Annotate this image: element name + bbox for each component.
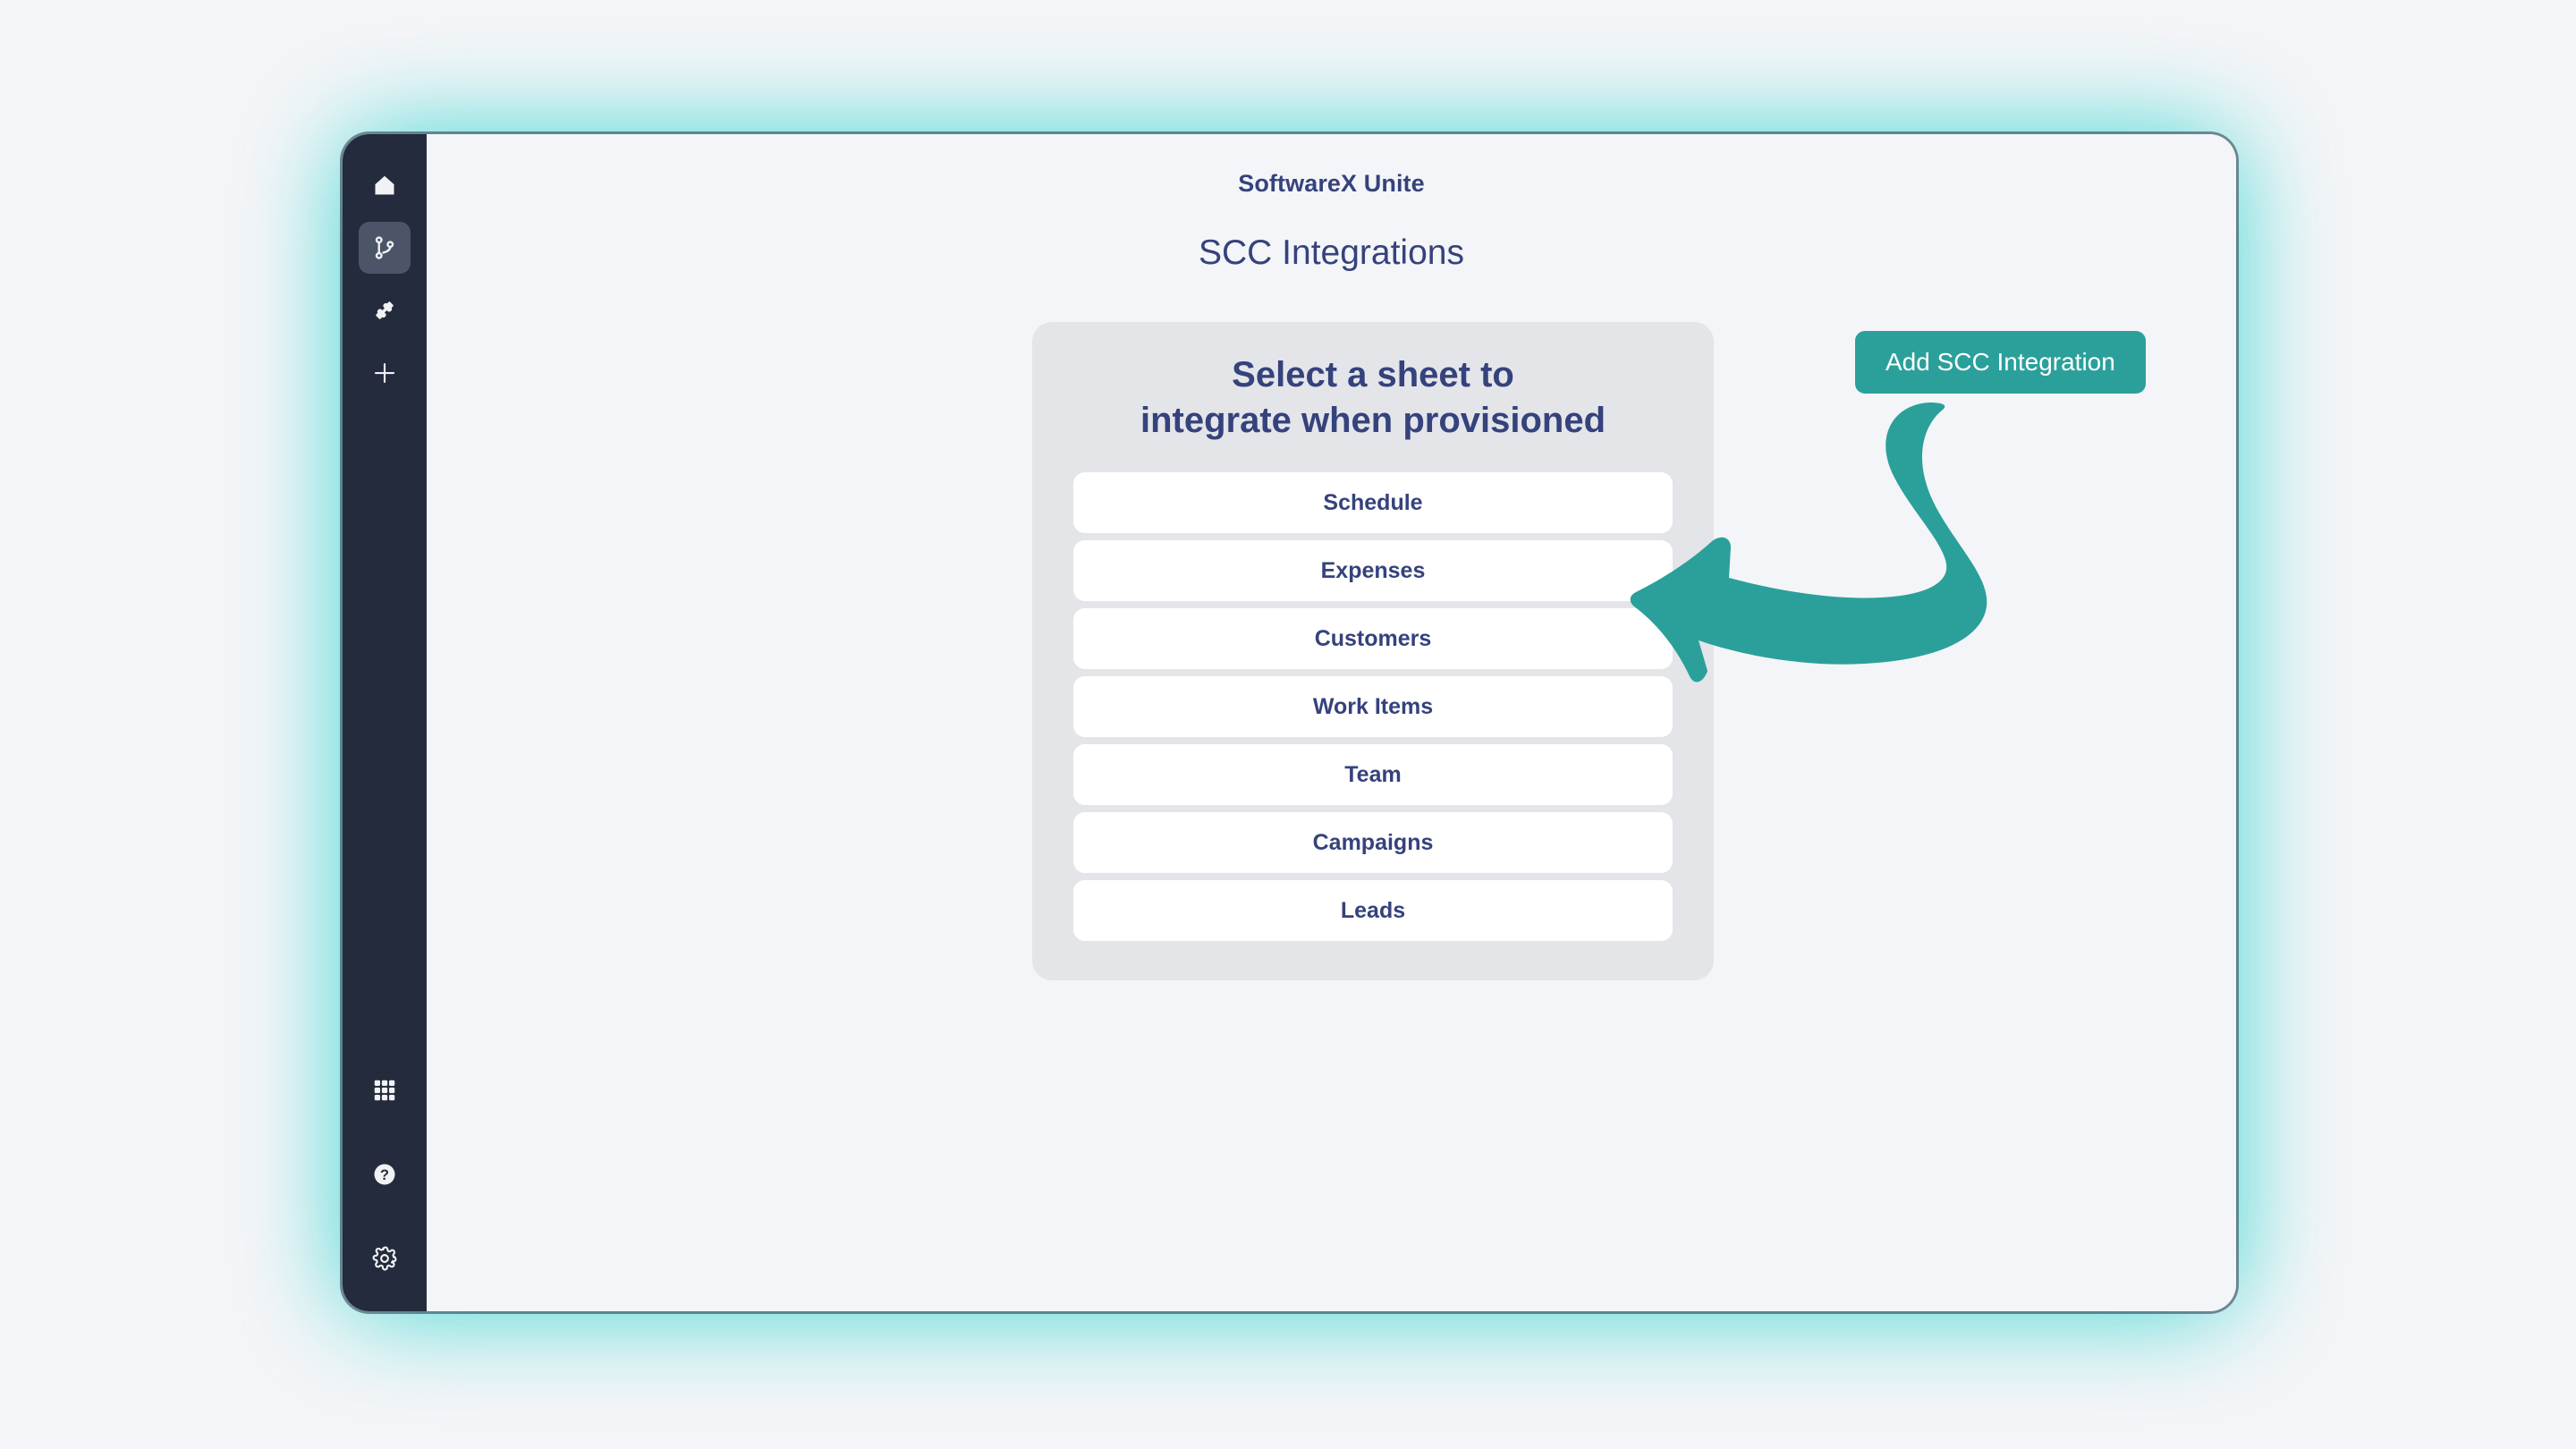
sheet-option-work-items[interactable]: Work Items (1073, 676, 1673, 737)
page-title: SCC Integrations (427, 233, 2236, 273)
svg-text:?: ? (380, 1167, 389, 1183)
sheet-option-customers[interactable]: Customers (1073, 608, 1673, 669)
plug-icon (371, 297, 398, 324)
app-window: ? SoftwareX Unite SCC Integration (343, 134, 2236, 1311)
screen: ? SoftwareX Unite SCC Integration (0, 0, 2576, 1449)
sidebar-item-help[interactable]: ? (359, 1148, 411, 1200)
main-content: SoftwareX Unite SCC Integrations Select … (427, 134, 2236, 1311)
sidebar-item-connections[interactable] (359, 284, 411, 336)
sidebar-item-home[interactable] (359, 159, 411, 211)
grid-apps-icon (371, 1077, 398, 1104)
plus-icon (371, 360, 398, 386)
home-icon (372, 173, 397, 198)
panel-heading-line-1: Select a sheet to (1232, 355, 1514, 394)
sidebar-item-add[interactable] (359, 347, 411, 399)
sheet-option-leads[interactable]: Leads (1073, 880, 1673, 941)
git-branch-icon (371, 234, 398, 261)
panel-heading: Select a sheet to integrate when provisi… (1073, 352, 1673, 444)
sidebar-item-settings[interactable] (359, 1233, 411, 1284)
sidebar-item-apps[interactable] (359, 1064, 411, 1116)
add-scc-integration-button[interactable]: Add SCC Integration (1855, 331, 2146, 394)
sidebar-bottom-group: ? (359, 1064, 411, 1284)
gear-icon (371, 1245, 398, 1272)
sheet-selection-panel: Select a sheet to integrate when provisi… (1032, 322, 1714, 980)
sheet-option-expenses[interactable]: Expenses (1073, 540, 1673, 601)
app-title: SoftwareX Unite (427, 170, 2236, 198)
sheet-option-team[interactable]: Team (1073, 744, 1673, 805)
panel-heading-line-2: integrate when provisioned (1140, 401, 1606, 440)
help-circle-icon: ? (371, 1161, 398, 1188)
sheet-option-campaigns[interactable]: Campaigns (1073, 812, 1673, 873)
sidebar-top-group (359, 159, 411, 399)
sheet-option-schedule[interactable]: Schedule (1073, 472, 1673, 533)
sidebar-item-integrations[interactable] (359, 222, 411, 274)
sheet-list: Schedule Expenses Customers Work Items T… (1073, 472, 1673, 941)
sidebar: ? (343, 134, 427, 1311)
